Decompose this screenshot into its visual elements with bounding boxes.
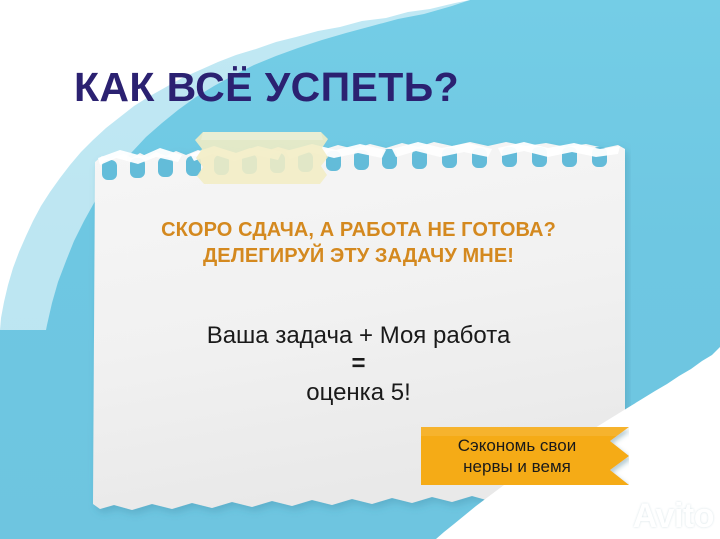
headline-block: СКОРО СДАЧА, А РАБОТА НЕ ГОТОВА? ДЕЛЕГИР… (86, 218, 631, 269)
headline-line-2: ДЕЛЕГИРУЙ ЭТУ ЗАДАЧУ МНЕ! (86, 244, 631, 270)
avito-watermark: Avito (596, 499, 714, 533)
equation-block: Ваша задача + Моя работа = оценка 5! (86, 322, 631, 407)
ribbon-text-block: Сэкономь свои нервы и вемя (421, 436, 613, 478)
ribbon-line-1: Сэкономь свои (421, 436, 613, 457)
equation-line-2: = (86, 350, 631, 378)
avito-dots-icon (596, 503, 630, 529)
avito-brand-text: Avito (633, 499, 714, 533)
equation-line-3: оценка 5! (86, 379, 631, 407)
ribbon-banner: Сэкономь свои нервы и вемя (421, 427, 629, 485)
poster-canvas: КАК ВСЁ УСПЕТЬ? (0, 0, 720, 539)
headline-line-1: СКОРО СДАЧА, А РАБОТА НЕ ГОТОВА? (161, 219, 556, 241)
equation-line-1: Ваша задача + Моя работа (86, 322, 631, 350)
ribbon-line-2: нервы и вемя (421, 457, 613, 478)
page-title: КАК ВСЁ УСПЕТЬ? (74, 64, 459, 111)
